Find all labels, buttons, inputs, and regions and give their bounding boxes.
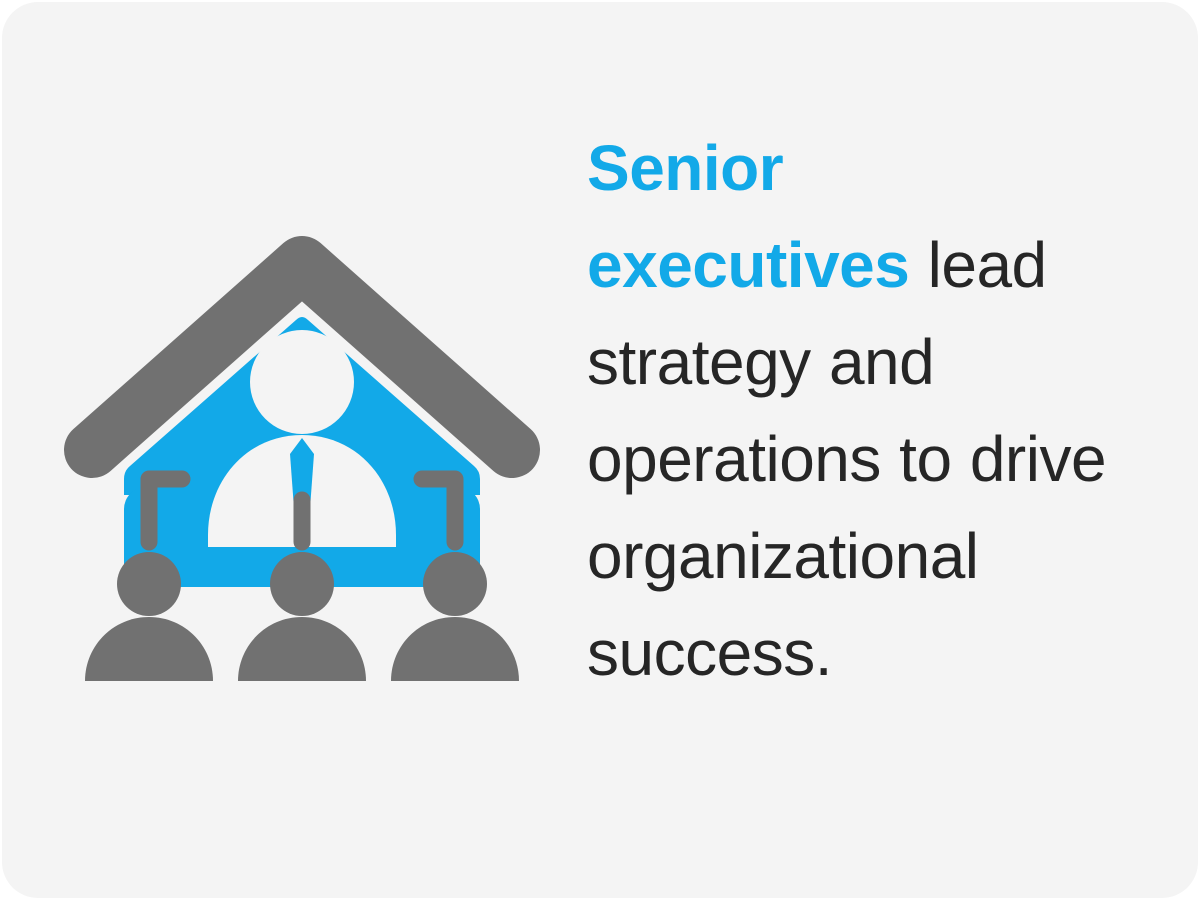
organization-hierarchy-icon	[62, 202, 542, 702]
person-silhouette-group	[85, 552, 519, 681]
headline-paragraph: Senior executives lead strategy and oper…	[587, 120, 1117, 702]
headline-accent-text: Senior executives	[587, 132, 909, 301]
headline-block: Senior executives lead strategy and oper…	[587, 120, 1117, 702]
info-card: Senior executives lead strategy and oper…	[2, 2, 1198, 898]
